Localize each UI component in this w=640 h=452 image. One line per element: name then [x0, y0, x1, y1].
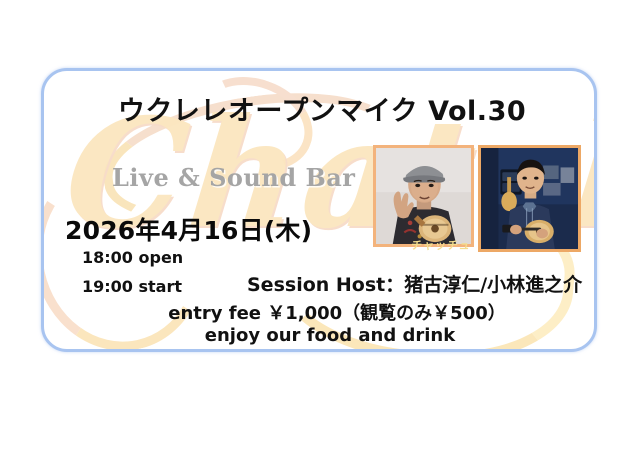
flyer-canvas: Chatcha ウクレレオープンマイク Vol.30 Live & Sound … — [0, 0, 640, 452]
session-host: Session Host：猪古淳仁/小林進之介 — [247, 270, 582, 297]
event-flyer-card: Chatcha ウクレレオープンマイク Vol.30 Live & Sound … — [41, 68, 597, 352]
host-ruby-text: チャッチュ — [410, 237, 472, 253]
event-date: 2026年4月16日(木) — [65, 211, 312, 247]
host-photo-2-image — [481, 148, 578, 249]
page-title: ウクレレオープンマイク Vol.30 — [44, 89, 597, 128]
open-time: 18:00 open — [82, 248, 183, 267]
entry-fee: entry fee ￥1,000（観覧のみ￥500） — [44, 299, 597, 325]
host-photo-1 — [373, 145, 474, 247]
food-note: enjoy our food and drink — [44, 325, 597, 346]
start-time: 19:00 start — [82, 277, 182, 296]
host-photo-2 — [478, 145, 581, 252]
venue-tagline: Live & Sound Bar — [112, 163, 355, 192]
host-photo-1-image — [376, 148, 471, 244]
